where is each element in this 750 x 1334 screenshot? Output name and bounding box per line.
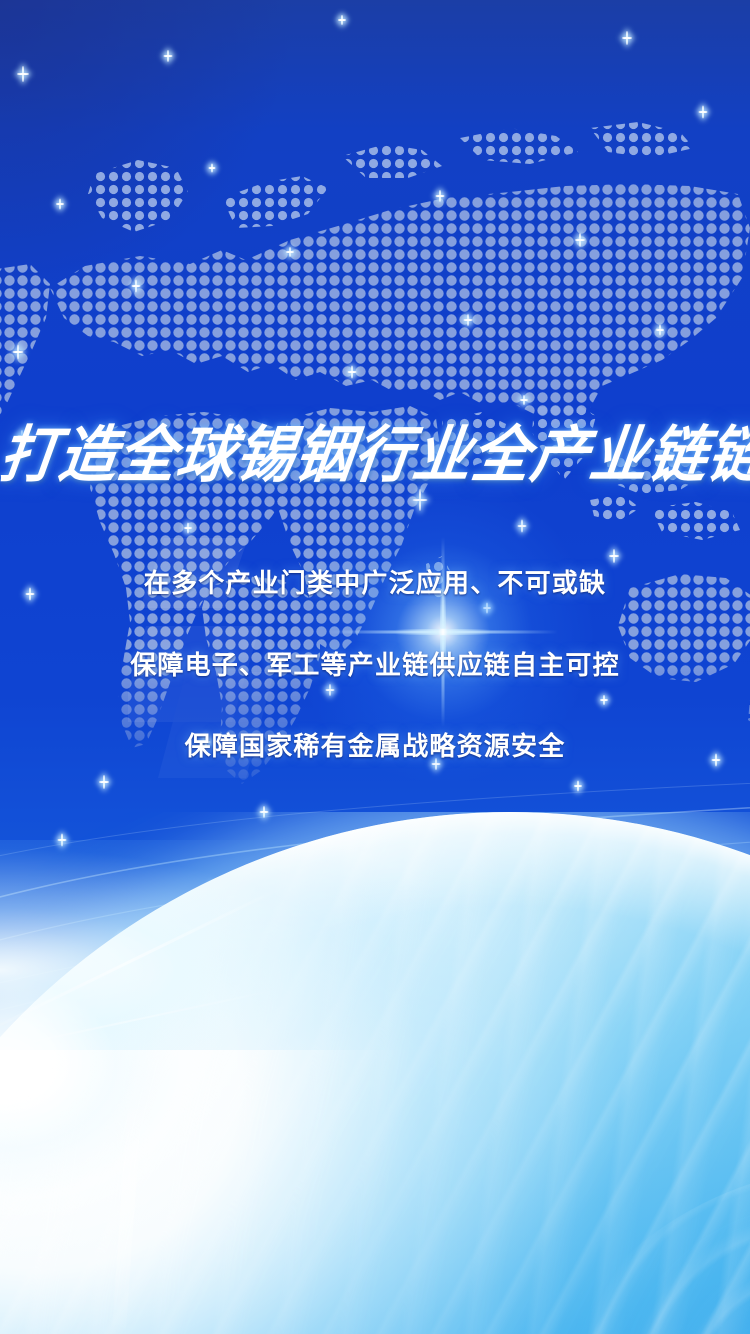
poster-canvas: 打造全球锡铟行业全产业链链主 在多个产业门类中广泛应用、不可或缺 保障电子、军工… — [0, 0, 750, 1334]
earth-icon — [0, 812, 750, 1334]
world-map-icon — [0, 0, 750, 818]
